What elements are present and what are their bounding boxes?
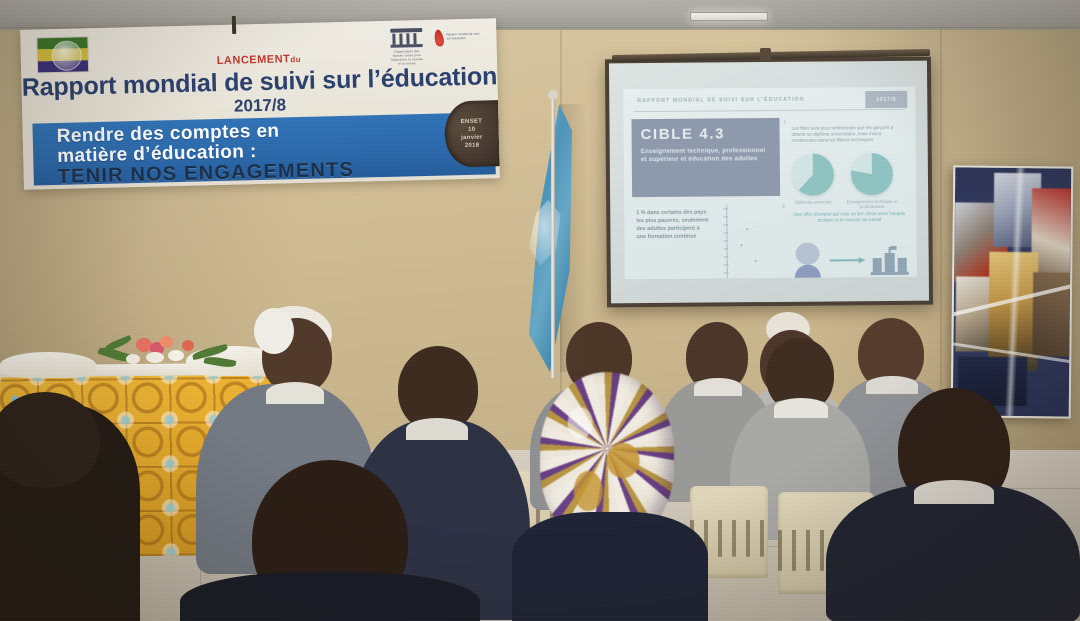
presentation-slide: RAPPORT MONDIAL DE SUIVI SUR L’ÉDUCATION… — [623, 87, 917, 280]
school-building-icon — [871, 245, 909, 275]
enset-stamp: ENSET 10 janvier 2018 — [444, 100, 500, 167]
attendee-headwrap-torso — [512, 512, 708, 621]
floral-arrangement — [96, 336, 246, 376]
slide-target-subtitle: Enseignement technique, professionnel et… — [641, 147, 771, 164]
screen-mount-knob — [760, 48, 771, 61]
pie-slice-2 — [851, 153, 893, 195]
slide-tag: 2017/8 — [865, 91, 907, 108]
gem-caption: Rapport mondial de suivi sur l'education — [446, 29, 480, 47]
rollup-banner — [951, 165, 1074, 418]
slide-left-note: 1 % dans certains des pays les plus pauv… — [636, 209, 708, 242]
slide-pie-2-label: Enseignement technique et professionnel — [834, 199, 910, 210]
enset-stamp-line1: ENSET — [461, 118, 483, 127]
table-cloth-drape — [0, 352, 96, 378]
slide-pie-1-label: Diplômés université — [792, 199, 834, 204]
slide-pie-chart-1: Diplômés université — [792, 153, 834, 209]
conference-room-photo: Organisation des Nations Unies pour l'ed… — [0, 0, 1080, 621]
slide-callout-2: 2 — [782, 204, 785, 210]
slide-pie-chart-group: Diplômés université Enseignement techniq… — [792, 153, 910, 210]
arrow-right-icon — [830, 257, 866, 263]
slide-callout-1: 1 — [783, 120, 786, 126]
slide-flow-diagram — [791, 239, 909, 279]
pie-slice-1 — [792, 153, 834, 195]
screen-surface: RAPPORT MONDIAL DE SUIVI SUR L’ÉDUCATION… — [609, 61, 929, 304]
slide-pies-note: Les filles sont plus nombreuses que les … — [792, 125, 908, 144]
slide-flow-note: Une offre d’emploi qui crée un lien étro… — [792, 211, 906, 225]
slide-target-number: CIBLE 4.3 — [641, 126, 771, 143]
fluorescent-light-icon — [690, 12, 768, 21]
slide-target-block: CIBLE 4.3 Enseignement technique, profes… — [631, 118, 780, 197]
slide-dot-plot: … … — [720, 204, 781, 279]
banner-nail — [232, 16, 236, 34]
person-icon — [791, 243, 825, 279]
gem-report-logo-icon: Rapport mondial de suivi sur l'education — [434, 29, 480, 47]
event-banner: Organisation des Nations Unies pour l'ed… — [20, 18, 500, 190]
banner-eyebrow-text: LANCEMENT — [217, 53, 291, 67]
flag-pole — [551, 96, 555, 378]
projection-screen: RAPPORT MONDIAL DE SUIVI SUR L’ÉDUCATION… — [605, 57, 933, 308]
flag-finial — [548, 90, 558, 100]
slide-divider — [633, 109, 905, 112]
enset-stamp-line2: 10 — [468, 126, 475, 134]
slide-pie-chart-2: Enseignement technique et professionnel — [834, 153, 910, 210]
enset-stamp-line4: 2018 — [465, 142, 480, 150]
slide-header: RAPPORT MONDIAL DE SUIVI SUR L’ÉDUCATION — [637, 97, 804, 104]
banner-subtitle-band: Rendre des comptes en matière d’éducatio… — [32, 112, 495, 185]
banner-eyebrow-suffix: du — [290, 55, 301, 64]
